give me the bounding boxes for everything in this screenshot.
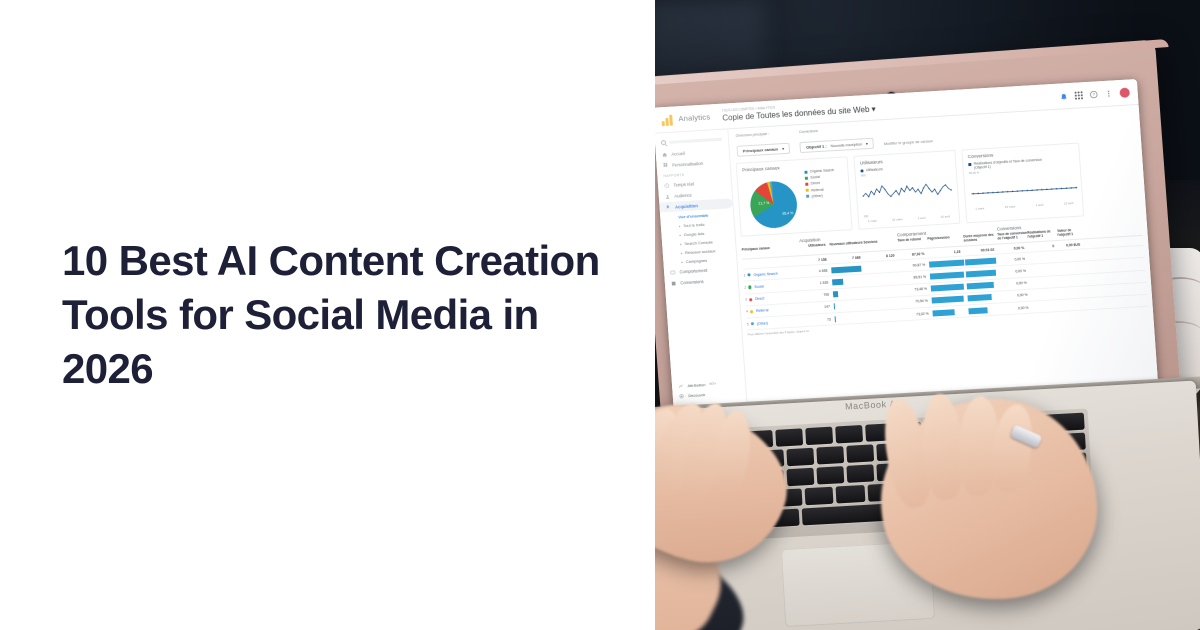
channel-color-dot [748,273,751,276]
chevron-right-icon: ▸ [679,233,681,237]
chevron-right-icon: ▸ [680,242,682,246]
attribution-icon [678,383,684,389]
row-goal-rate: 0,00 % [1001,293,1031,299]
row-label: (Other) [757,321,768,326]
social-share-card: 10 Best AI Content Creation Tools for So… [0,0,1200,630]
sidebar-label: Attribution [687,382,705,388]
realtime-icon [664,183,670,189]
legend-swatch [805,176,808,179]
row-rank: 1 [743,273,745,277]
sidebar-label: Acquisition [675,203,698,209]
audience-icon [665,194,671,200]
total-duration: 00:01:02 [964,247,998,253]
conversions-control: Conversions Objectif 1 : Nouvelle inscri… [799,126,874,154]
row-users-bar [834,302,868,310]
help-icon[interactable]: ? [1089,90,1098,98]
row-bounce: 73,48 % [901,287,931,293]
row-users-bar [835,314,869,322]
users-line-chart [861,172,955,209]
dashboard-main: Dimension principale : Principaux canaux… [728,105,1158,413]
conversions-label: Conversions [799,126,873,134]
card-title: Principaux canaux [742,164,800,172]
home-icon [662,152,668,158]
chevron-down-icon: ▾ [866,141,868,146]
chevron-down-icon: ▾ [782,146,784,151]
row-rank: 2 [744,286,746,290]
goal-prefix: Objectif 1 : [806,144,827,150]
search-placeholder [669,138,722,144]
col-taux-conversion[interactable]: Taux de conversion de l'objectif 1 [997,232,1027,241]
total-goal-completions: 0 [1028,244,1058,250]
row-rank: 4 [746,310,748,314]
legend-swatch [806,195,809,198]
channel-color-dot [749,298,752,301]
search-icon [661,140,666,145]
analytics-logo-icon [661,113,674,126]
sidebar-label: Audience [674,192,692,198]
col-duree-moyenne[interactable]: Durée moyenne des sessions [963,234,997,244]
legend-item: Organic Search [804,168,834,174]
row-goal-rate: 0,00 % [1001,281,1031,287]
row-users: 4 658 [801,268,831,274]
sidebar-label: Google Ads [684,231,705,237]
row-label: Social [754,284,764,289]
legend-swatch [968,163,971,166]
card-principaux-canaux: Principaux canaux 65,4 % 21,7 % [736,156,853,236]
sidebar-label: Personnalisation [672,160,703,167]
row-goal-rate: 0,00 % [1002,305,1032,311]
svg-text:?: ? [1092,92,1095,97]
chevron-right-icon: ▸ [681,252,683,256]
row-goal-rate: 0,00 % [999,257,1029,263]
legend-swatch [805,183,808,186]
behavior-icon [670,270,676,276]
total-pages: 1,18 [928,249,964,255]
row-bounce: 73,02 % [903,311,933,317]
hero-photo: Analytics TOUS LES COMPTES > ANALYTICS C… [655,0,1200,630]
row-bounce: 70,94 % [902,299,932,305]
row-dimension[interactable]: 2 Social [744,282,802,289]
card-utilisateurs: Utilisateurs Utilisateurs 600 [853,150,960,230]
channel-color-dot [751,322,754,325]
channel-color-dot [750,310,753,313]
sidebar-label: Temps réel [673,182,694,188]
row-label: Organic Search [753,271,778,276]
col-sessions[interactable]: Sessions [863,239,897,249]
legend-swatch [804,170,807,173]
brand-label: Analytics [678,112,710,123]
col-nouveaux-utilisateurs[interactable]: Nouveaux utilisateurs [830,241,864,251]
sidebar-label: Conversions [680,279,704,285]
row-goal-rate: 0,00 % [1000,269,1030,275]
conversions-line-chart [969,169,1079,201]
row-users: 706 [803,293,833,299]
sidebar-label: Comportement [679,268,707,275]
user-avatar[interactable] [1119,87,1130,98]
row-dimension[interactable]: 4 Referral [746,307,804,314]
total-goal-value: 0,00 $US [1058,242,1084,248]
sidebar-label: Search Console [684,240,713,247]
card-conversions: Conversions Réalisations d'objectifs et … [961,143,1084,224]
total-users: 7 158 [801,257,831,263]
laptop-screen: Analytics TOUS LES COMPTES > ANALYTICS C… [655,79,1158,417]
total-sessions: 8 120 [864,253,898,259]
goal-value: Nouvelle inscription [831,142,862,148]
total-goal-rate: 0,00 % [998,245,1028,251]
legend-item: Referral [806,187,836,193]
row-rank: 3 [745,298,747,302]
sidebar-label: Découvrir [688,393,705,399]
col-utilisateurs[interactable]: Utilisateurs [800,243,830,252]
primary-dimension-label: Dimension principale : [736,131,790,138]
row-users-bar [832,277,866,285]
primary-dimension-dropdown[interactable]: Principaux canaux ▾ [736,143,790,157]
total-bounce: 87,92 % [898,251,928,257]
chevron-right-icon: ▸ [681,261,683,265]
row-bounce-bar [929,259,965,267]
legend-item: Social [805,174,835,180]
col-pages-session[interactable]: Pages/session [927,236,963,246]
edit-channel-group-link[interactable]: Modifier le groupe de canaux [884,139,933,149]
col-principaux-canaux[interactable]: Principaux canaux [742,245,800,256]
row-rank: 5 [747,322,749,326]
pie-slice-label-2: 21,7 % [758,201,769,206]
row-users: 147 [804,305,834,311]
row-label: Referral [756,309,769,314]
headline-panel: 10 Best AI Content Creation Tools for So… [0,0,655,630]
sidebar-label: Campagnes [685,258,707,264]
row-users-bar [831,265,865,273]
row-users: 73 [805,317,835,323]
customization-icon [662,162,668,168]
bell-icon[interactable] [1060,92,1069,100]
row-bounce-bar [932,296,968,304]
more-vertical-icon[interactable] [1104,89,1113,97]
row-bounce-bar [930,271,966,279]
primary-dimension-value: Principaux canaux [743,146,779,153]
apps-grid-icon[interactable] [1074,91,1083,99]
row-bounce-bar [931,284,967,292]
page-title: 10 Best AI Content Creation Tools for So… [0,234,655,395]
channel-color-dot [749,286,752,289]
analytics-dashboard: Analytics TOUS LES COMPTES > ANALYTICS C… [655,79,1158,417]
col-valeur[interactable]: Valeur de l'objectif 1 [1057,228,1083,237]
chevron-right-icon: ▸ [679,224,681,228]
sidebar-label: Tout le trafic [683,222,705,228]
pie-legend: Organic Search Social Direct Referral (O… [804,168,838,228]
row-dimension[interactable]: 5 (Other) [747,319,805,326]
goal-dropdown[interactable]: Objectif 1 : Nouvelle inscription ▾ [800,138,875,153]
row-bounce-bar [932,308,968,316]
row-label: Direct [755,297,764,302]
sidebar-label: Réseaux sociaux [685,249,716,256]
acquisition-icon [665,204,671,210]
sidebar-label: Accueil [671,151,685,157]
pie-chart: 65,4 % 21,7 % [743,174,805,235]
x-axis-ticks: 1 mars 15 mars 1 avril 15 avril [971,201,1077,211]
row-dimension[interactable]: 3 Direct [745,294,803,301]
primary-dimension-control: Dimension principale : Principaux canaux… [736,131,791,158]
row-bounce: 89,51 % [900,275,930,281]
row-users-bar [833,290,867,298]
col-taux-de-rebond[interactable]: Taux de rebond [897,238,927,247]
legend-swatch [806,189,809,192]
discover-icon [679,394,685,400]
row-dimension[interactable]: 1 Organic Search [743,270,801,277]
legend-item: Direct [805,180,835,186]
row-users: 1 535 [802,280,832,286]
beta-badge: BÊTA [709,382,716,385]
legend-item: (Other) [806,193,836,199]
total-new-users: 7 089 [830,255,864,261]
pie-slice-label-1: 65,4 % [782,211,793,216]
legend-swatch [860,169,863,172]
conversions-icon [671,280,677,286]
row-bounce: 90,87 % [899,262,929,268]
chevron-down-icon: ▾ [871,105,876,114]
col-realisations[interactable]: Réalisations de l'objectif 1 [1027,230,1057,239]
